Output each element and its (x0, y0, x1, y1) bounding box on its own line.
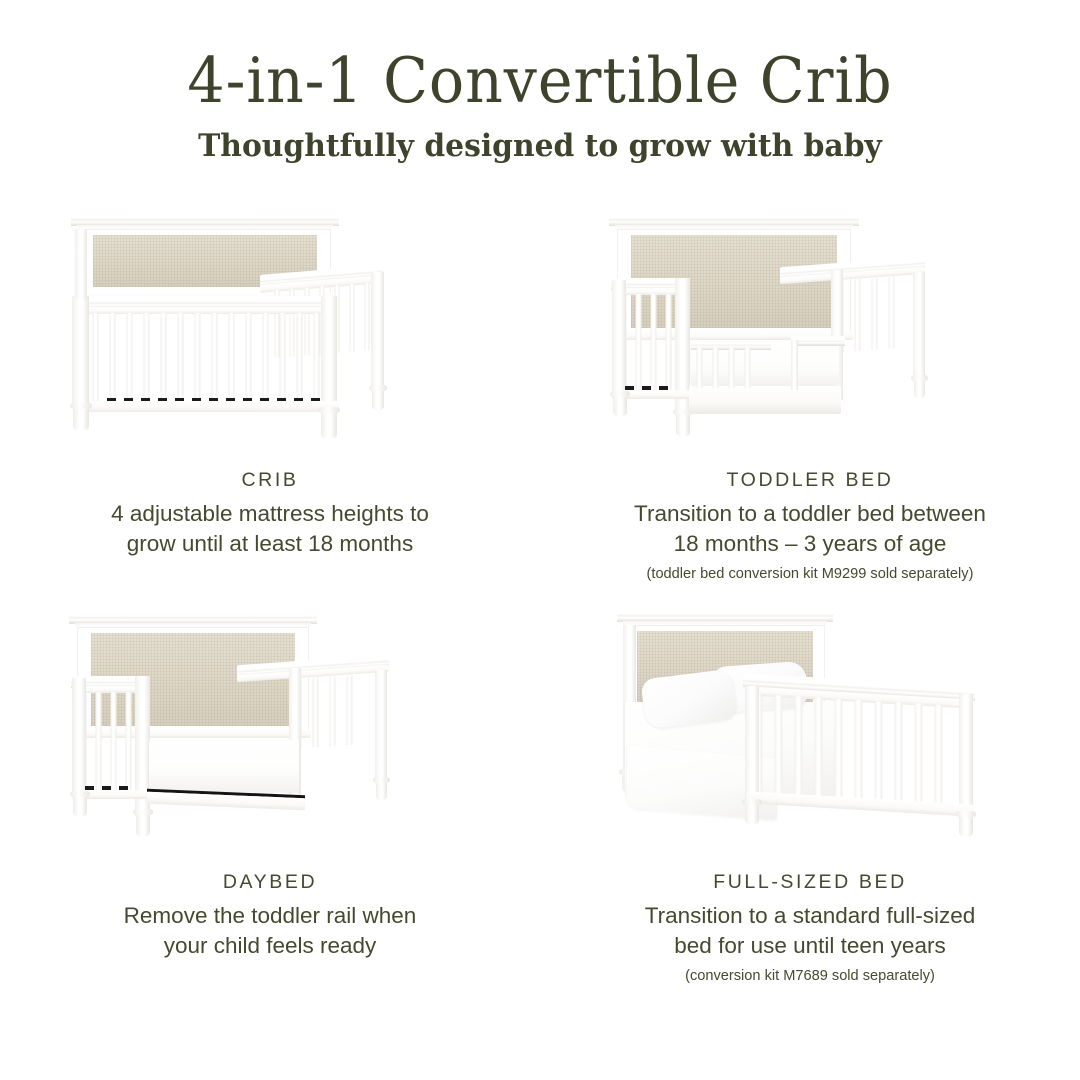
full-sized-bed-label: FULL-SIZED BED (645, 871, 976, 894)
daybed-description-line-1: Remove the toddler rail when (124, 901, 417, 931)
daybed-illustration (55, 602, 485, 867)
mode-card-toddler-bed: TODDLER BED Transition to a toddler bed … (540, 200, 1080, 584)
toddler-bed-illustration (595, 200, 1025, 465)
page-subtitle: Thoughtfully designed to grow with baby (22, 128, 1059, 164)
daybed-description-line-2: your child feels ready (124, 931, 417, 961)
full-sized-bed-description-line-2: bed for use until teen years (645, 931, 976, 961)
crib-illustration (55, 200, 485, 465)
mode-card-full-sized-bed: FULL-SIZED BED Transition to a standard … (540, 602, 1080, 986)
toddler-bed-description-line-1: Transition to a toddler bed between (634, 499, 986, 529)
toddler-bed-caption: TODDLER BED Transition to a toddler bed … (634, 469, 986, 584)
toddler-bed-note: (toddler bed conversion kit M9299 sold s… (634, 565, 986, 584)
mode-card-daybed: DAYBED Remove the toddler rail when your… (0, 602, 540, 986)
daybed-label: DAYBED (124, 871, 417, 894)
conversion-modes-grid: CRIB 4 adjustable mattress heights to gr… (0, 200, 1080, 986)
toddler-bed-description-line-2: 18 months – 3 years of age (634, 529, 986, 559)
full-sized-bed-illustration (595, 602, 1025, 867)
crib-caption: CRIB 4 adjustable mattress heights to gr… (111, 469, 429, 559)
page-title: 4-in-1 Convertible Crib (38, 48, 1042, 114)
daybed-caption: DAYBED Remove the toddler rail when your… (124, 871, 417, 961)
full-sized-bed-caption: FULL-SIZED BED Transition to a standard … (645, 871, 976, 986)
toddler-bed-label: TODDLER BED (634, 469, 986, 492)
mode-card-crib: CRIB 4 adjustable mattress heights to gr… (0, 200, 540, 584)
crib-label: CRIB (111, 469, 429, 492)
full-sized-bed-description-line-1: Transition to a standard full-sized (645, 901, 976, 931)
full-sized-bed-note: (conversion kit M7689 sold separately) (645, 967, 976, 986)
crib-description-line-2: grow until at least 18 months (111, 529, 429, 559)
header: 4-in-1 Convertible Crib Thoughtfully des… (0, 0, 1080, 164)
crib-description-line-1: 4 adjustable mattress heights to (111, 499, 429, 529)
